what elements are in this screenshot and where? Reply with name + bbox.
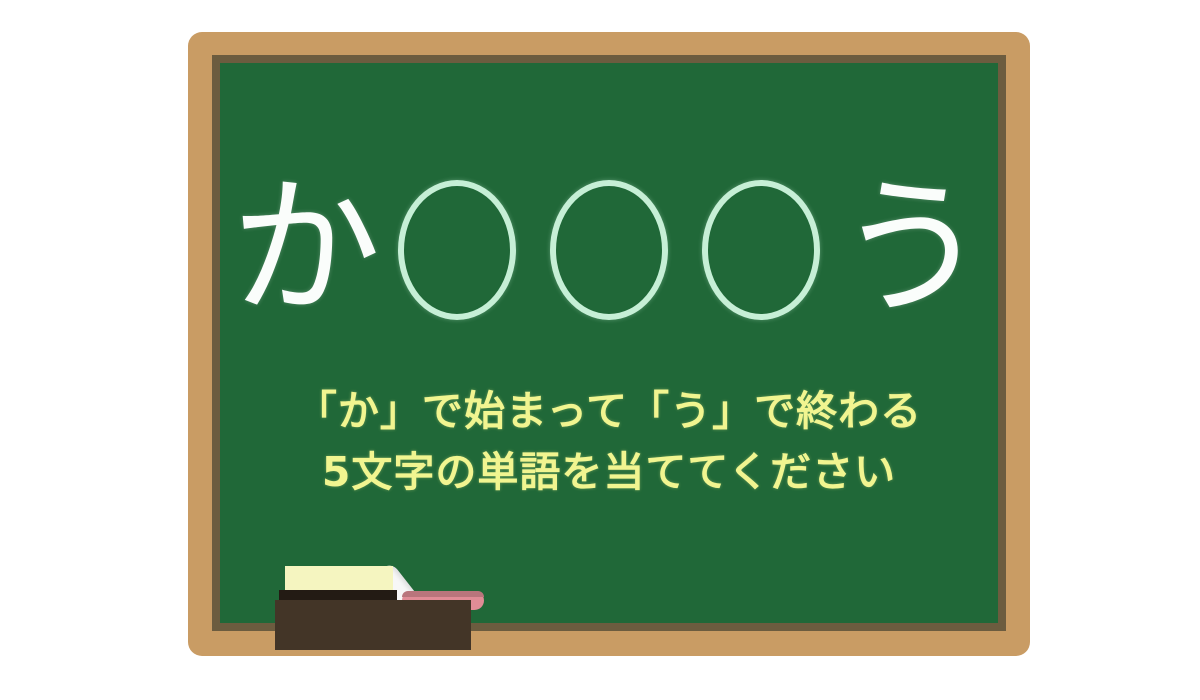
chalkboard-scene: かう 「か」で始まって「う」で終わる 5文字の単語を当ててください — [0, 0, 1200, 700]
instruction-line-2: 5文字の単語を当ててください — [220, 442, 998, 503]
eraser-felt-top — [285, 566, 393, 592]
chalk-tray-box — [275, 600, 471, 650]
blank-circle-icon — [702, 180, 820, 320]
blank-circle-icon — [550, 180, 668, 320]
puzzle-pattern-row: かう — [220, 171, 998, 329]
chalkboard-surface: かう 「か」で始まって「う」で終わる 5文字の単語を当ててください — [220, 63, 998, 623]
chalk-tray-group — [275, 558, 475, 650]
puzzle-char-first: か — [231, 171, 381, 329]
puzzle-char-last: う — [837, 171, 987, 329]
instruction-line-1: 「か」で始まって「う」で終わる — [220, 381, 998, 442]
blank-circle-icon — [398, 180, 516, 320]
instruction-block: 「か」で始まって「う」で終わる 5文字の単語を当ててください — [220, 381, 998, 502]
